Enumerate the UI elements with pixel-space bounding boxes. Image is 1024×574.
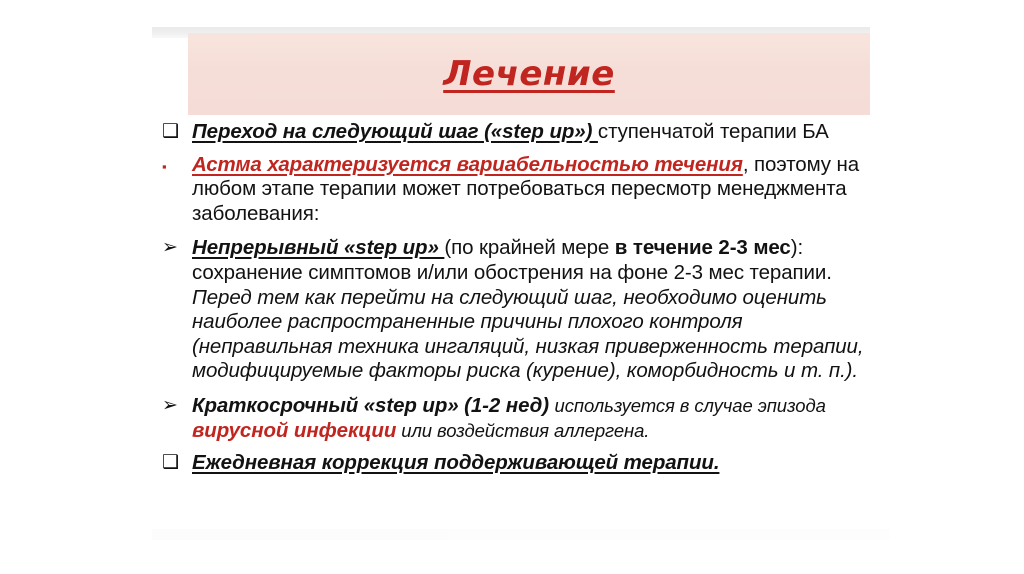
list-item-text: Непрерывный «step up» (по крайней мере в… (192, 236, 882, 384)
page-title: Лечение (443, 57, 615, 91)
run-emphasis: Переход на следующий шаг («step up») (192, 120, 598, 143)
run-emphasis: Краткосрочный «step up» (1-2 нед) (192, 394, 555, 417)
list-item-text: Ежедневная коррекция поддерживающей тера… (192, 451, 882, 476)
list-item-text: Астма характеризуется вариабельностью те… (192, 153, 882, 227)
list-item-text: Краткосрочный «step up» (1-2 нед) исполь… (192, 394, 882, 443)
run-plain: (по крайней мере (444, 236, 614, 259)
list-item: ❑ Ежедневная коррекция поддерживающей те… (162, 451, 882, 476)
run-italic: используется в случае эпизода (555, 395, 826, 416)
list-item: ▪ Астма характеризуется вариабельностью … (162, 153, 882, 227)
hollow-square-bullet-icon: ❑ (162, 120, 192, 143)
run-emphasis: Ежедневная коррекция поддерживающей тера… (192, 451, 719, 474)
bullet-list: ❑ Переход на следующий шаг («step up») с… (162, 120, 882, 478)
run-emphasis: Непрерывный «step up» (192, 236, 444, 259)
title-band: Лечение (188, 33, 870, 115)
run-italic: Перед тем как перейти на следующий шаг, … (192, 286, 863, 383)
list-item: ➢ Краткосрочный «step up» (1-2 нед) испо… (162, 394, 882, 443)
slide-canvas: Лечение ❑ Переход на следующий шаг («ste… (0, 0, 1024, 574)
list-item: ❑ Переход на следующий шаг («step up») с… (162, 120, 882, 145)
list-item: ➢ Непрерывный «step up» (по крайней мере… (162, 236, 882, 384)
run-bold: в течение 2-3 мес (615, 236, 791, 259)
red-square-bullet-icon: ▪ (162, 153, 192, 174)
run-emphasis-red: вирусной инфекции (192, 419, 396, 442)
arrow-bullet-icon: ➢ (162, 236, 192, 259)
run-italic: или воздействия аллергена. (396, 420, 649, 441)
bottom-decorative-strip (152, 529, 448, 540)
arrow-bullet-icon: ➢ (162, 394, 192, 417)
run-emphasis-red: Астма характеризуется вариабельностью те… (192, 153, 743, 176)
hollow-square-bullet-icon: ❑ (162, 451, 192, 474)
bottom-decorative-strip-right (448, 529, 890, 540)
list-item-text: Переход на следующий шаг («step up») сту… (192, 120, 882, 145)
run-plain: ступенчатой терапии БА (598, 120, 829, 143)
